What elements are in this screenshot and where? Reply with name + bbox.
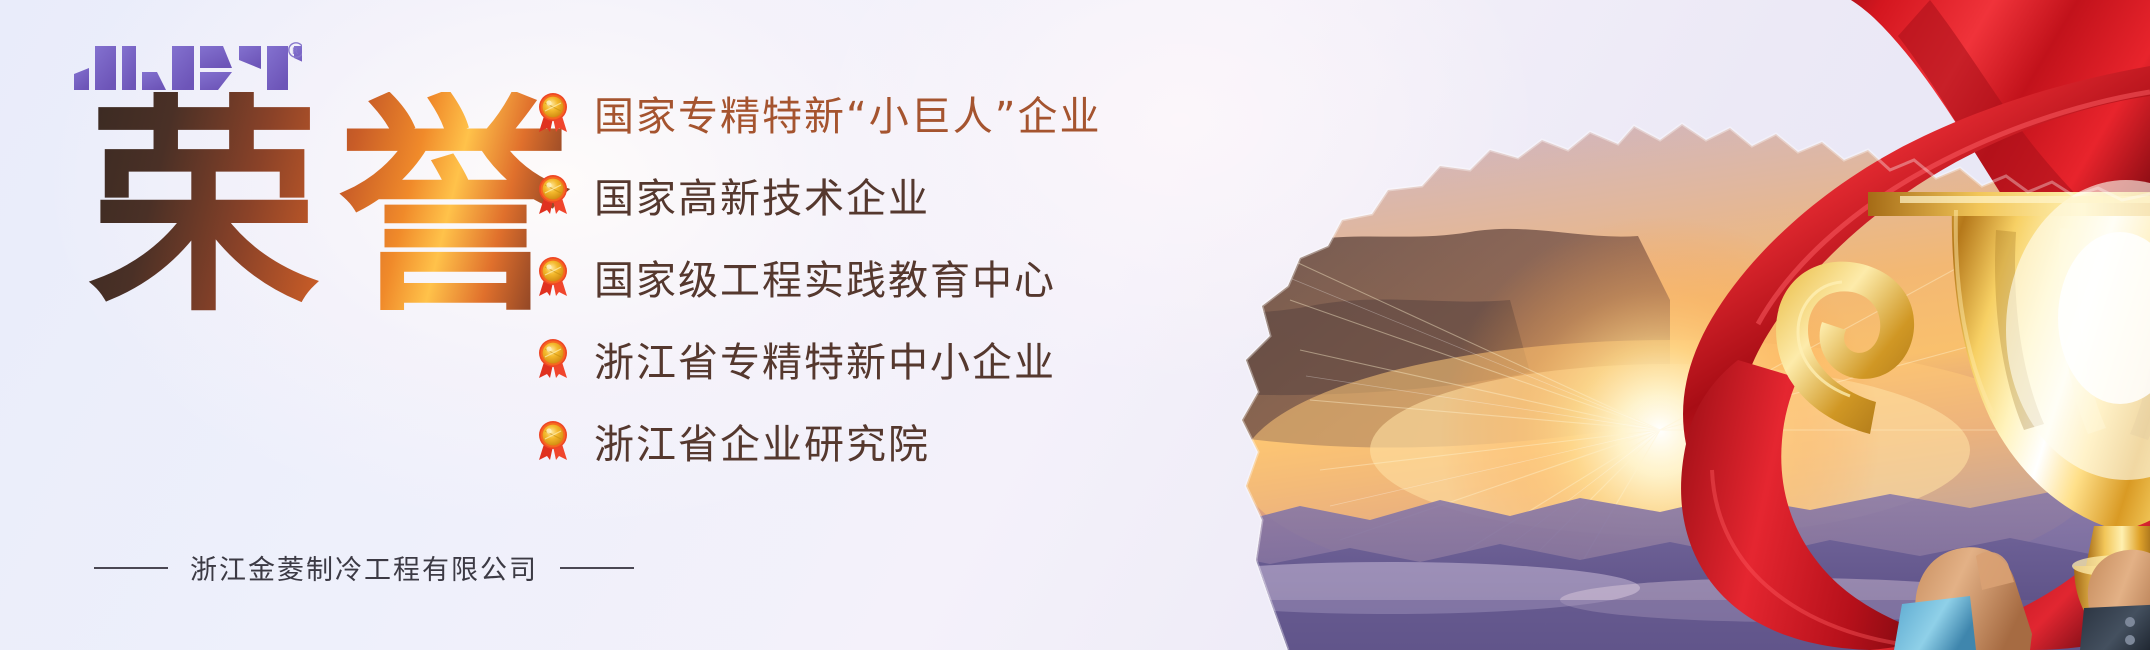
medal-rosette-icon: [536, 256, 570, 298]
medal-rosette-icon: [536, 174, 570, 216]
medal-rosette-icon: [536, 92, 570, 134]
medal-rosette-icon: [536, 338, 570, 380]
honor-label: 国家专精特新“小巨人”企业: [594, 84, 1101, 142]
company-name-line: 浙江金菱制冷工程有限公司: [94, 548, 634, 587]
trophy-sunset-photo: [970, 0, 2150, 650]
list-item[interactable]: 国家级工程实践教育中心: [536, 248, 1101, 306]
list-item[interactable]: 国家专精特新“小巨人”企业: [536, 84, 1101, 142]
list-item[interactable]: 国家高新技术企业: [536, 166, 1101, 224]
honor-label: 国家高新技术企业: [594, 166, 930, 224]
rule-right-icon: [560, 567, 634, 569]
page-title: 荣誉: [88, 92, 588, 324]
list-item[interactable]: 浙江省专精特新中小企业: [536, 330, 1101, 388]
honor-banner: R 荣誉 浙江金菱制冷工程有限公司: [0, 0, 2150, 650]
honor-label: 浙江省企业研究院: [594, 412, 930, 470]
honor-label: 国家级工程实践教育中心: [594, 248, 1056, 306]
medal-rosette-icon: [536, 420, 570, 462]
company-name: 浙江金菱制冷工程有限公司: [190, 548, 538, 587]
registered-mark-label: R: [292, 47, 298, 57]
rule-left-icon: [94, 567, 168, 569]
list-item[interactable]: 浙江省企业研究院: [536, 412, 1101, 470]
honor-label: 浙江省专精特新中小企业: [594, 330, 1056, 388]
honors-list: 国家专精特新“小巨人”企业 国家高新技术企业: [536, 84, 1101, 470]
